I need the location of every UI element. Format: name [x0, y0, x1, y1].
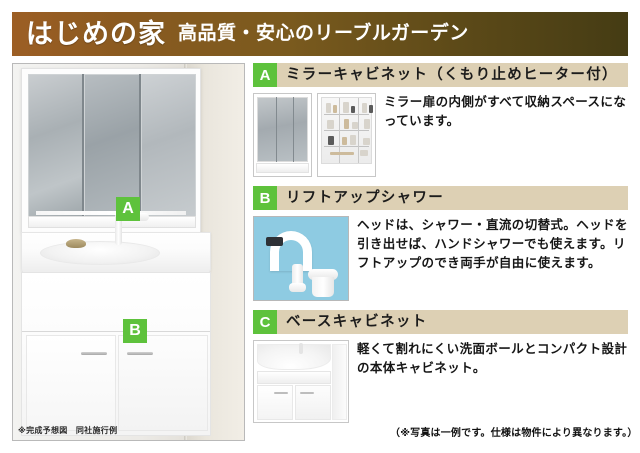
page-header: はじめの家 高品質・安心のリーブルガーデン [12, 12, 628, 56]
section-b-header: B リフトアップシャワー [253, 186, 628, 210]
mirror-door-left [28, 74, 83, 217]
section-c-body: 軽くて割れにくい洗面ボールとコンパクト設計の本体キャビネット。 [253, 334, 628, 423]
shelf-bottle-1 [326, 103, 331, 113]
mirror-cabinet-shelf [28, 216, 196, 228]
cabinet-door-right [118, 335, 208, 431]
mirror-cabinet-closed-image [253, 93, 312, 177]
header-title-sub: 高品質・安心のリーブルガーデン [178, 24, 469, 44]
photo-badge-a: A [116, 197, 140, 221]
mirror-cabinet-unit [21, 68, 201, 233]
base-cabinet-unit [21, 272, 211, 436]
base-handle-left [274, 392, 288, 394]
shelf-box-4 [364, 119, 370, 129]
shower-base [289, 283, 306, 292]
photo-badge-b: B [123, 319, 147, 343]
open-shelf-2 [324, 130, 369, 131]
mirror-door-right [141, 74, 196, 217]
feature-section-b: B リフトアップシャワー ヘッドは、シャワー・直流の切替式。ヘッドを引き出せば、… [253, 186, 628, 301]
feature-section-c: C ベースキャビネット 軽くて割れにくい洗面ボールとコンパクト設計の本体キャ [253, 310, 628, 423]
mirror-closed-seam-2 [293, 97, 294, 162]
base-door-right [295, 385, 331, 420]
page-root: はじめの家 高品質・安心のリーブルガーデン [0, 0, 640, 453]
bathroom-vanity-photo: A B C ※完成予想図 同社施行例 [13, 64, 244, 440]
feature-section-a: A ミラーキャビネット（くもり止めヒーター付） [253, 63, 628, 177]
shelf-item-9 [350, 135, 356, 145]
base-cabinet-image [253, 340, 349, 423]
section-c-badge: C [253, 310, 277, 334]
shelf-bottle-4 [351, 106, 355, 113]
base-drawer [257, 371, 331, 384]
base-wash-bowl [257, 344, 331, 370]
header-title-main: はじめの家 [26, 21, 166, 48]
section-a-description: ミラー扉の内側がすべて収納スペースになっています。 [384, 93, 628, 131]
feature-sections: A ミラーキャビネット（くもり止めヒーター付） [253, 63, 628, 430]
cabinet-handle-left [81, 352, 107, 355]
shelf-bottle-5 [362, 103, 367, 113]
drawer-seam [22, 331, 210, 332]
section-a-badge: A [253, 63, 277, 87]
shelf-box-1 [327, 120, 334, 129]
shelf-bottle-2 [333, 105, 337, 113]
shelf-towel [330, 152, 354, 155]
section-c-title: ベースキャビネット [286, 315, 427, 330]
section-b-title: リフトアップシャワー [286, 191, 444, 206]
vanity-photo-panel: A B C ※完成予想図 同社施行例 [12, 63, 245, 441]
open-shelf-3 [324, 146, 369, 147]
cabinet-door-left [26, 335, 116, 431]
section-a-title: ミラーキャビネット（くもり止めヒーター付） [286, 68, 618, 83]
base-side-panel [332, 344, 347, 420]
page-footnote: （※写真は一例です。仕様は物件により異なります。） [390, 424, 638, 439]
mirror-seam-right [139, 74, 141, 217]
shelf-item-11 [360, 150, 368, 156]
shelf-item-7 [328, 136, 334, 145]
shelf-bottle-6 [369, 105, 373, 113]
soap-dish [66, 239, 86, 248]
wash-basin [40, 241, 160, 265]
mirror-light-strip [36, 211, 186, 215]
section-c-header: C ベースキャビネット [253, 310, 628, 334]
mirror-seam-left [82, 74, 84, 217]
mirror-door-center [84, 74, 140, 217]
mirror-closed-doors [257, 97, 308, 162]
base-door-left [257, 385, 293, 420]
section-a-body: ミラー扉の内側がすべて収納スペースになっています。 [253, 87, 628, 177]
section-b-body: ヘッドは、シャワー・直流の切替式。ヘッドを引き出せば、ハンドシャワーでも使えます… [253, 210, 628, 301]
base-faucet [299, 343, 303, 354]
lift-up-shower-image [253, 216, 349, 301]
mixer-body [312, 277, 334, 297]
open-cabinet-interior [321, 97, 372, 164]
shelf-item-10 [363, 138, 370, 145]
cabinet-handle-right [127, 352, 153, 355]
open-divider-2 [358, 98, 359, 163]
base-handle-right [300, 392, 314, 394]
mirror-closed-seam-1 [276, 97, 277, 162]
shelf-item-8 [342, 137, 347, 145]
shower-head-tip [266, 237, 283, 246]
section-b-badge: B [253, 186, 277, 210]
mirror-closed-base [256, 163, 309, 173]
shelf-bottle-3 [343, 102, 349, 113]
shelf-box-2 [344, 119, 349, 129]
shelf-box-3 [352, 122, 358, 129]
mirror-cabinet-open-image [317, 93, 376, 177]
section-a-header: A ミラーキャビネット（くもり止めヒーター付） [253, 63, 628, 87]
photo-caption: ※完成予想図 同社施行例 [18, 425, 117, 436]
section-c-description: 軽くて割れにくい洗面ボールとコンパクト設計の本体キャビネット。 [357, 340, 628, 378]
section-b-description: ヘッドは、シャワー・直流の切替式。ヘッドを引き出せば、ハンドシャワーでも使えます… [357, 216, 628, 273]
open-shelf-1 [324, 114, 369, 115]
vanity-counter [21, 232, 211, 274]
